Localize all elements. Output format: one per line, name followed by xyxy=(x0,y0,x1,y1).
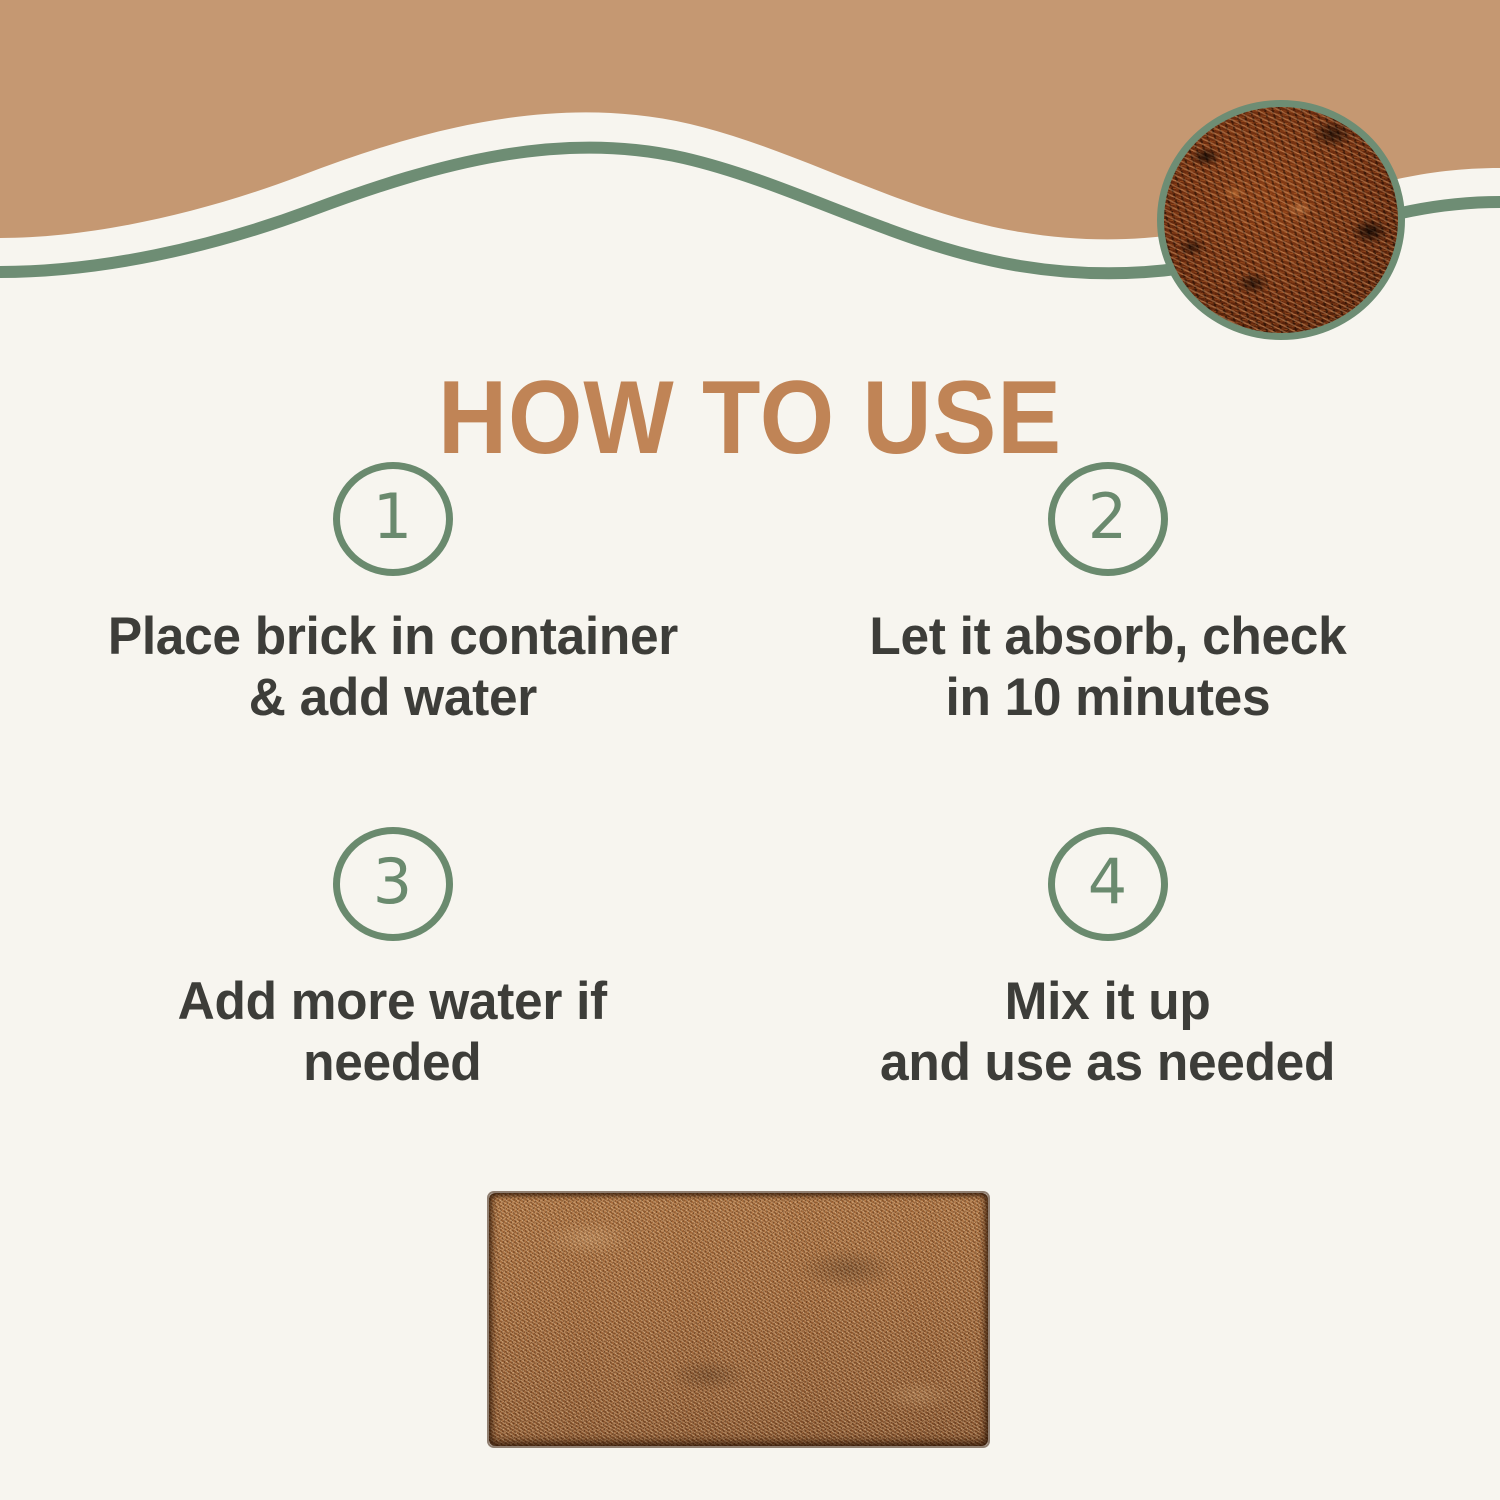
step-3-number-badge: 3 xyxy=(333,827,453,941)
step-3: 3 Add more water if needed xyxy=(40,827,745,1094)
step-1-number-badge: 1 xyxy=(333,462,453,576)
step-1: 1 Place brick in container & add water xyxy=(40,462,745,729)
step-3-label: Add more water if needed xyxy=(178,971,607,1094)
page-title: HOW TO USE xyxy=(60,366,1440,470)
step-2-label: Let it absorb, check in 10 minutes xyxy=(869,606,1346,729)
how-to-use-infographic: HOW TO USE 1 Place brick in container & … xyxy=(0,0,1500,1500)
coir-brick-product-image xyxy=(489,1193,988,1446)
step-2: 2 Let it absorb, check in 10 minutes xyxy=(755,462,1460,729)
coir-texture-circle-image xyxy=(1157,100,1405,340)
step-4-label: Mix it up and use as needed xyxy=(880,971,1335,1094)
steps-grid: 1 Place brick in container & add water 2… xyxy=(40,462,1460,1094)
step-4: 4 Mix it up and use as needed xyxy=(755,827,1460,1094)
step-4-number-badge: 4 xyxy=(1048,827,1168,941)
step-2-number-badge: 2 xyxy=(1048,462,1168,576)
step-1-label: Place brick in container & add water xyxy=(107,606,677,729)
